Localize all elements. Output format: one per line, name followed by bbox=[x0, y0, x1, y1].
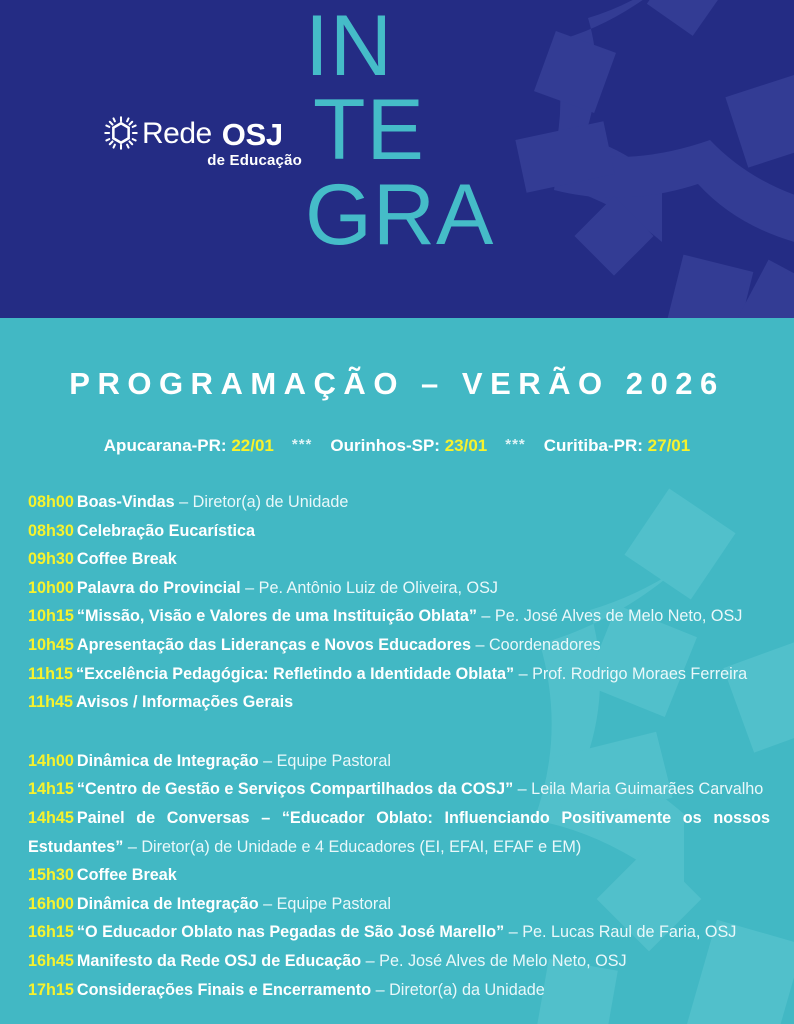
schedule-time: 17h15 bbox=[28, 981, 74, 999]
schedule-time: 08h30 bbox=[28, 522, 74, 540]
schedule-item: 14h45Painel de Conversas – “Educador Obl… bbox=[28, 804, 770, 861]
schedule-time: 10h45 bbox=[28, 636, 74, 654]
poster-body: PROGRAMAÇÃO – VERÃO 2026 Apucarana-PR: 2… bbox=[0, 318, 794, 1024]
schedule-item: 11h15“Excelência Pedagógica: Refletindo … bbox=[28, 660, 770, 689]
schedule-title: “Missão, Visão e Valores de uma Institui… bbox=[77, 607, 477, 625]
locations-row: Apucarana-PR: 22/01***Ourinhos-SP: 23/01… bbox=[0, 436, 794, 456]
poster-header: Rede OSJ de Educação IN TE GRA bbox=[0, 0, 794, 318]
schedule-desc: – Equipe Pastoral bbox=[259, 752, 391, 770]
wordmark-line-1: IN bbox=[305, 4, 565, 88]
integra-wordmark: IN TE GRA bbox=[305, 4, 565, 257]
schedule-item: 10h45Apresentação das Lideranças e Novos… bbox=[28, 631, 770, 660]
location-date: 22/01 bbox=[231, 436, 274, 455]
section-spacer bbox=[28, 717, 770, 747]
schedule-item: 14h15“Centro de Gestão e Serviços Compar… bbox=[28, 775, 770, 804]
location-city: Curitiba-PR: bbox=[544, 436, 643, 455]
schedule-item: 10h15“Missão, Visão e Valores de uma Ins… bbox=[28, 602, 770, 631]
schedule-item: 16h45Manifesto da Rede OSJ de Educação –… bbox=[28, 947, 770, 976]
schedule-item: 08h00Boas-Vindas – Diretor(a) de Unidade bbox=[28, 488, 770, 517]
schedule-item: 17h15Considerações Finais e Encerramento… bbox=[28, 976, 770, 1005]
schedule-time: 11h15 bbox=[28, 665, 73, 683]
schedule-item: 11h45Avisos / Informações Gerais bbox=[28, 688, 770, 717]
wordmark-line-3: GRA bbox=[305, 173, 565, 257]
schedule-time: 15h30 bbox=[28, 866, 74, 884]
schedule-time: 11h45 bbox=[28, 693, 73, 711]
schedule-time: 10h00 bbox=[28, 579, 74, 597]
schedule-desc: – Diretor(a) de Unidade e 4 Educadores (… bbox=[123, 838, 581, 856]
schedule-time: 16h00 bbox=[28, 895, 74, 913]
schedule-title: Avisos / Informações Gerais bbox=[76, 693, 293, 711]
separator: *** bbox=[487, 436, 544, 453]
page-title: PROGRAMAÇÃO – VERÃO 2026 bbox=[0, 366, 794, 402]
schedule-desc: – Pe. José Alves de Melo Neto, OSJ bbox=[361, 952, 626, 970]
schedule-item: 15h30Coffee Break bbox=[28, 861, 770, 890]
schedule-item: 16h00Dinâmica de Integração – Equipe Pas… bbox=[28, 890, 770, 919]
poster-root: Rede OSJ de Educação IN TE GRA PR bbox=[0, 0, 794, 1024]
schedule-title: Coffee Break bbox=[77, 550, 177, 568]
schedule-desc: – Pe. Lucas Raul de Faria, OSJ bbox=[504, 923, 736, 941]
schedule-item: 14h00Dinâmica de Integração – Equipe Pas… bbox=[28, 747, 770, 776]
location-city: Apucarana-PR: bbox=[104, 436, 227, 455]
location-date: 23/01 bbox=[445, 436, 488, 455]
schedule-title: Celebração Eucarística bbox=[77, 522, 255, 540]
location-date: 27/01 bbox=[648, 436, 691, 455]
schedule-item: 08h30Celebração Eucarística bbox=[28, 517, 770, 546]
schedule-title: Dinâmica de Integração bbox=[77, 752, 259, 770]
schedule-title: Boas-Vindas bbox=[77, 493, 175, 511]
schedule-time: 10h15 bbox=[28, 607, 74, 625]
schedule-time: 16h15 bbox=[28, 923, 74, 941]
schedule-desc: – Prof. Rodrigo Moraes Ferreira bbox=[514, 665, 747, 683]
location-item: Curitiba-PR: 27/01 bbox=[544, 436, 690, 455]
schedule-list: 08h00Boas-Vindas – Diretor(a) de Unidade… bbox=[28, 488, 770, 1004]
schedule-time: 14h00 bbox=[28, 752, 74, 770]
schedule-time: 14h45 bbox=[28, 809, 74, 827]
location-item: Ourinhos-SP: 23/01 bbox=[330, 436, 487, 455]
sun-icon bbox=[104, 116, 138, 150]
schedule-item: 09h30Coffee Break bbox=[28, 545, 770, 574]
schedule-title: “Centro de Gestão e Serviços Compartilha… bbox=[77, 780, 513, 798]
schedule-desc: – Diretor(a) da Unidade bbox=[371, 981, 545, 999]
schedule-title: Manifesto da Rede OSJ de Educação bbox=[77, 952, 361, 970]
logo-subtitle: de Educação bbox=[104, 152, 304, 169]
schedule-title: Considerações Finais e Encerramento bbox=[77, 981, 371, 999]
logo-word-rede: Rede bbox=[142, 119, 212, 149]
schedule-time: 16h45 bbox=[28, 952, 74, 970]
schedule-title: Coffee Break bbox=[77, 866, 177, 884]
wordmark-line-2: TE bbox=[305, 88, 565, 172]
schedule-desc: – Leila Maria Guimarães Carvalho bbox=[513, 780, 763, 798]
schedule-item: 10h00Palavra do Provincial – Pe. Antônio… bbox=[28, 574, 770, 603]
separator: *** bbox=[274, 436, 331, 453]
schedule-title: “Excelência Pedagógica: Refletindo a Ide… bbox=[76, 665, 514, 683]
schedule-desc: – Coordenadores bbox=[471, 636, 601, 654]
schedule-desc: – Equipe Pastoral bbox=[259, 895, 391, 913]
logo-word-osj: OSJ bbox=[222, 119, 283, 150]
location-item: Apucarana-PR: 22/01 bbox=[104, 436, 274, 455]
schedule-desc: – Pe. Antônio Luiz de Oliveira, OSJ bbox=[241, 579, 498, 597]
schedule-desc: – Diretor(a) de Unidade bbox=[175, 493, 349, 511]
schedule-time: 08h00 bbox=[28, 493, 74, 511]
location-city: Ourinhos-SP: bbox=[330, 436, 440, 455]
brand-logo: Rede OSJ de Educação bbox=[104, 118, 304, 169]
schedule-desc: – Pe. José Alves de Melo Neto, OSJ bbox=[477, 607, 742, 625]
schedule-title: Apresentação das Lideranças e Novos Educ… bbox=[77, 636, 471, 654]
schedule-item: 16h15“O Educador Oblato nas Pegadas de S… bbox=[28, 918, 770, 947]
schedule-title: Dinâmica de Integração bbox=[77, 895, 259, 913]
schedule-title: Palavra do Provincial bbox=[77, 579, 241, 597]
schedule-time: 14h15 bbox=[28, 780, 74, 798]
schedule-title: “O Educador Oblato nas Pegadas de São Jo… bbox=[77, 923, 504, 941]
schedule-time: 09h30 bbox=[28, 550, 74, 568]
